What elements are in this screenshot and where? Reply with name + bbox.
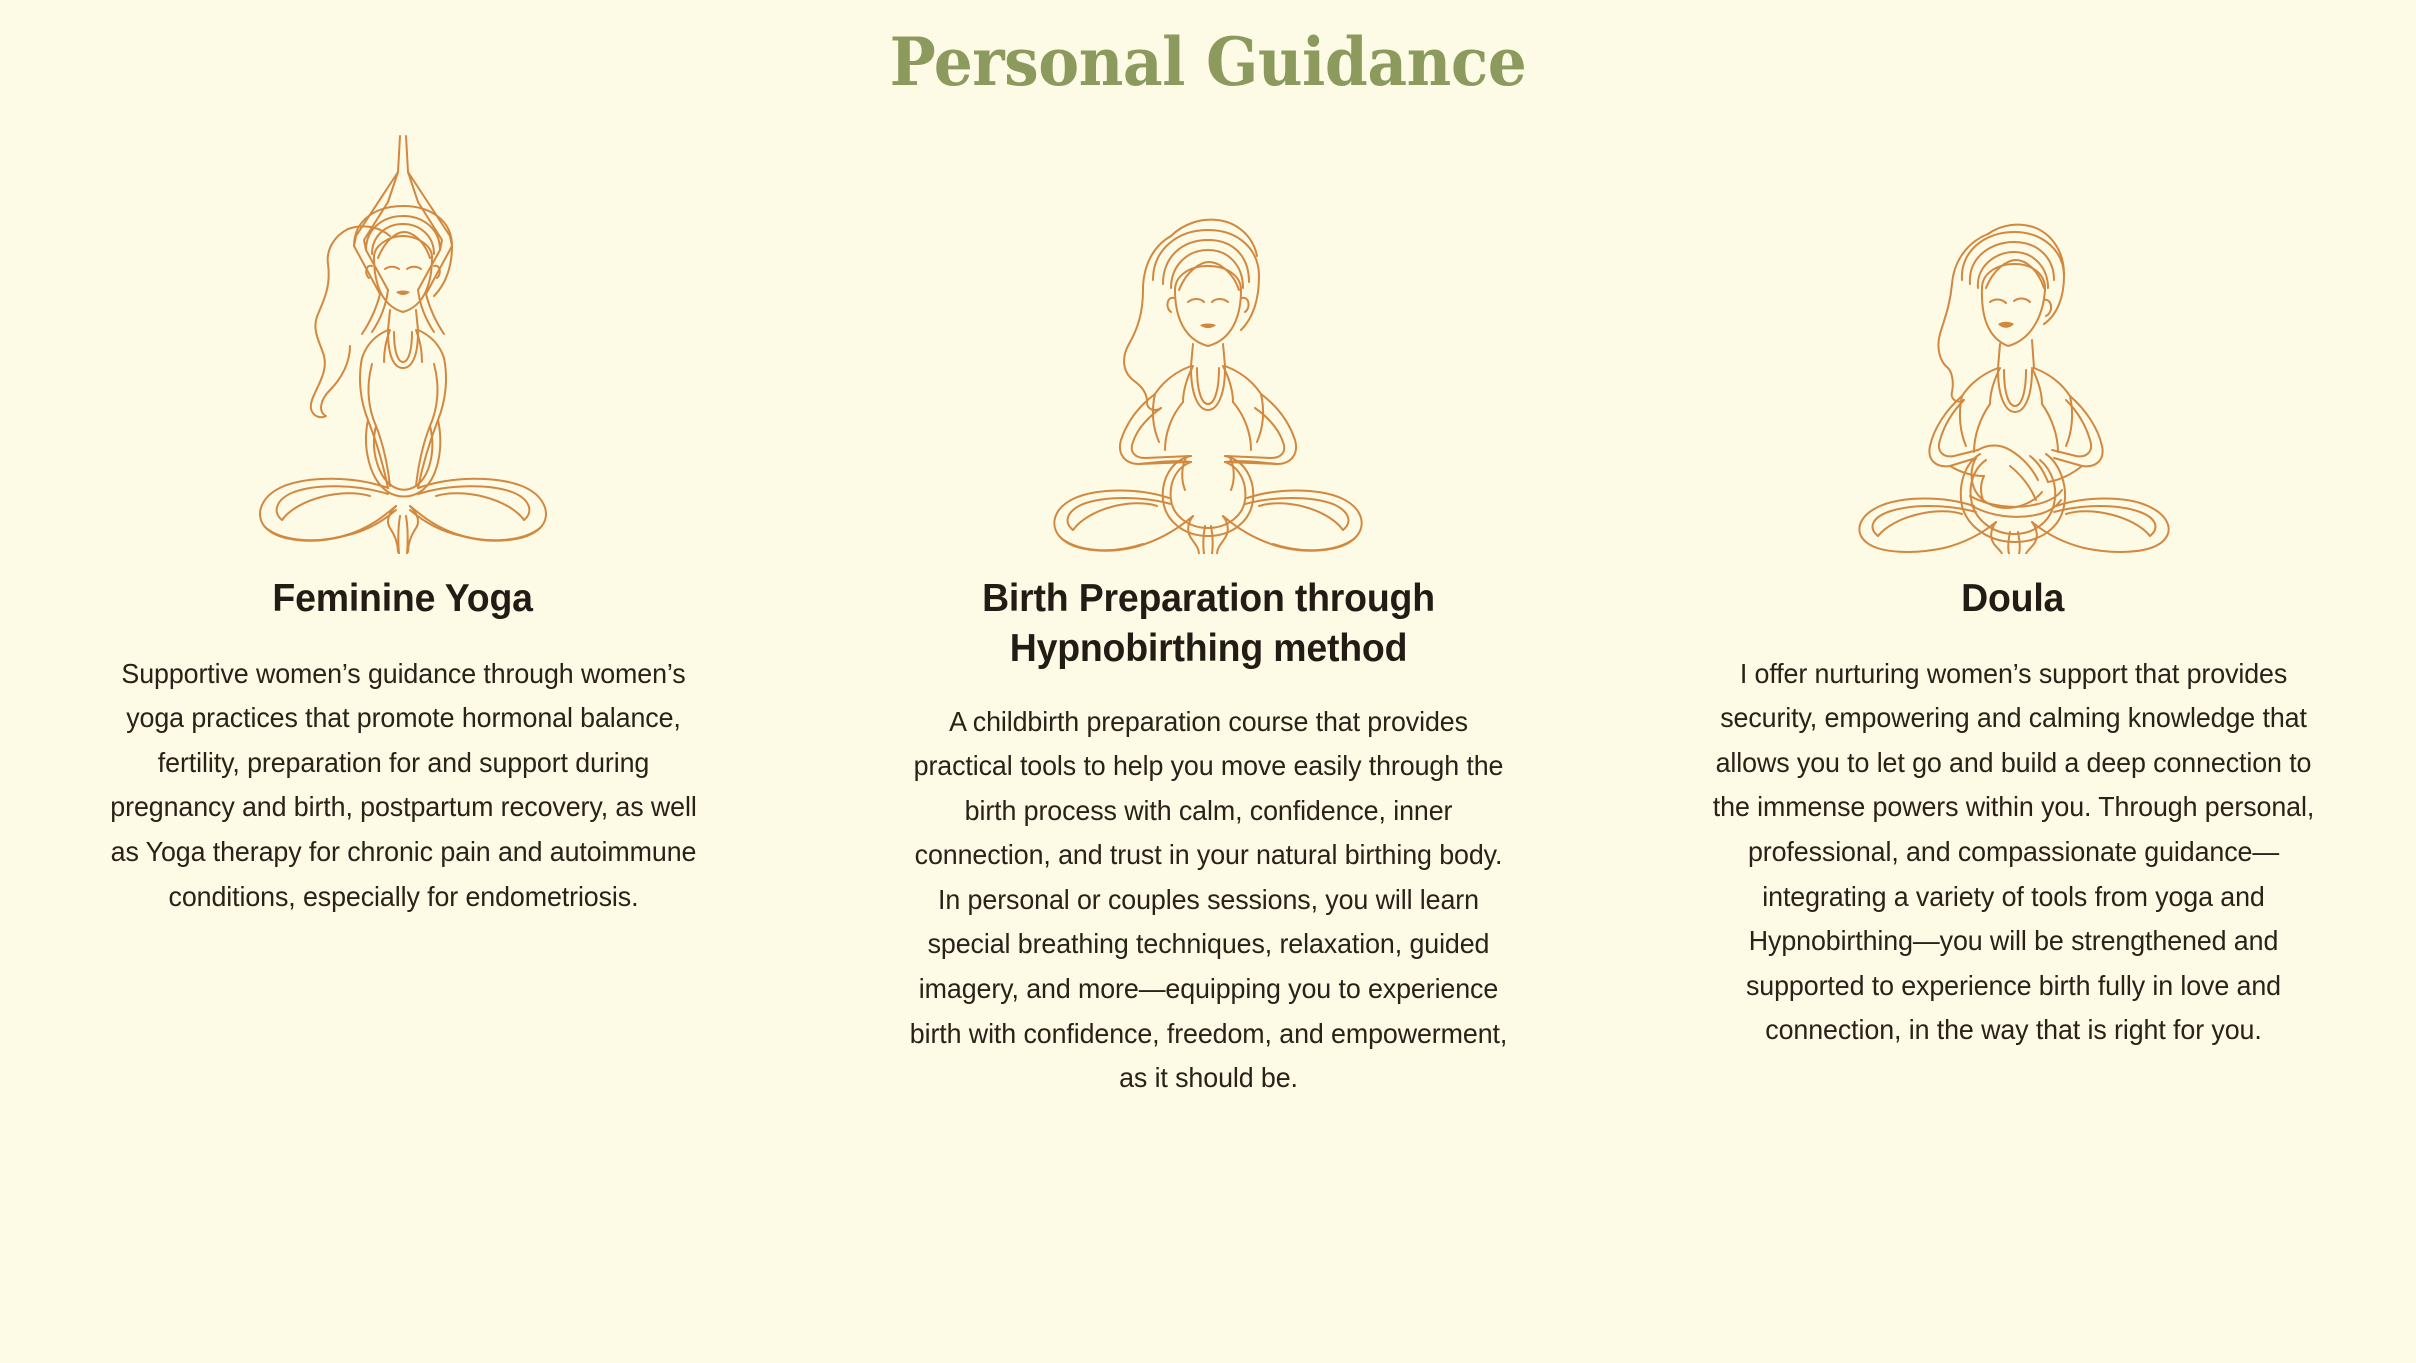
guidance-card-birth-preparation: Birth Preparation through Hypnobirthing … — [806, 124, 1611, 1101]
personal-guidance-section: Personal Guidance — [0, 0, 2416, 1363]
guidance-card-doula: Doula I offer nurturing women’s support … — [1611, 124, 2416, 1053]
pregnant-woman-lotus-cradling-belly-icon — [1848, 124, 2178, 554]
card-title-birth-preparation: Birth Preparation through Hypnobirthing … — [910, 574, 1506, 674]
pregnant-woman-lotus-hands-on-hips-icon — [1043, 124, 1373, 554]
guidance-card-feminine-yoga: Feminine Yoga Supportive women’s guidanc… — [1, 124, 806, 919]
card-body-doula: I offer nurturing women’s support that p… — [1710, 652, 2315, 1053]
card-body-feminine-yoga: Supportive women’s guidance through wome… — [100, 652, 705, 919]
page-title: Personal Guidance — [85, 0, 2332, 100]
guidance-cards-row: Feminine Yoga Supportive women’s guidanc… — [0, 100, 2416, 1101]
card-title-feminine-yoga: Feminine Yoga — [273, 574, 533, 624]
card-title-doula: Doula — [1961, 574, 2064, 624]
card-body-birth-preparation: A childbirth preparation course that pro… — [905, 700, 1510, 1101]
pregnant-woman-lotus-arms-overhead-icon — [238, 124, 568, 554]
